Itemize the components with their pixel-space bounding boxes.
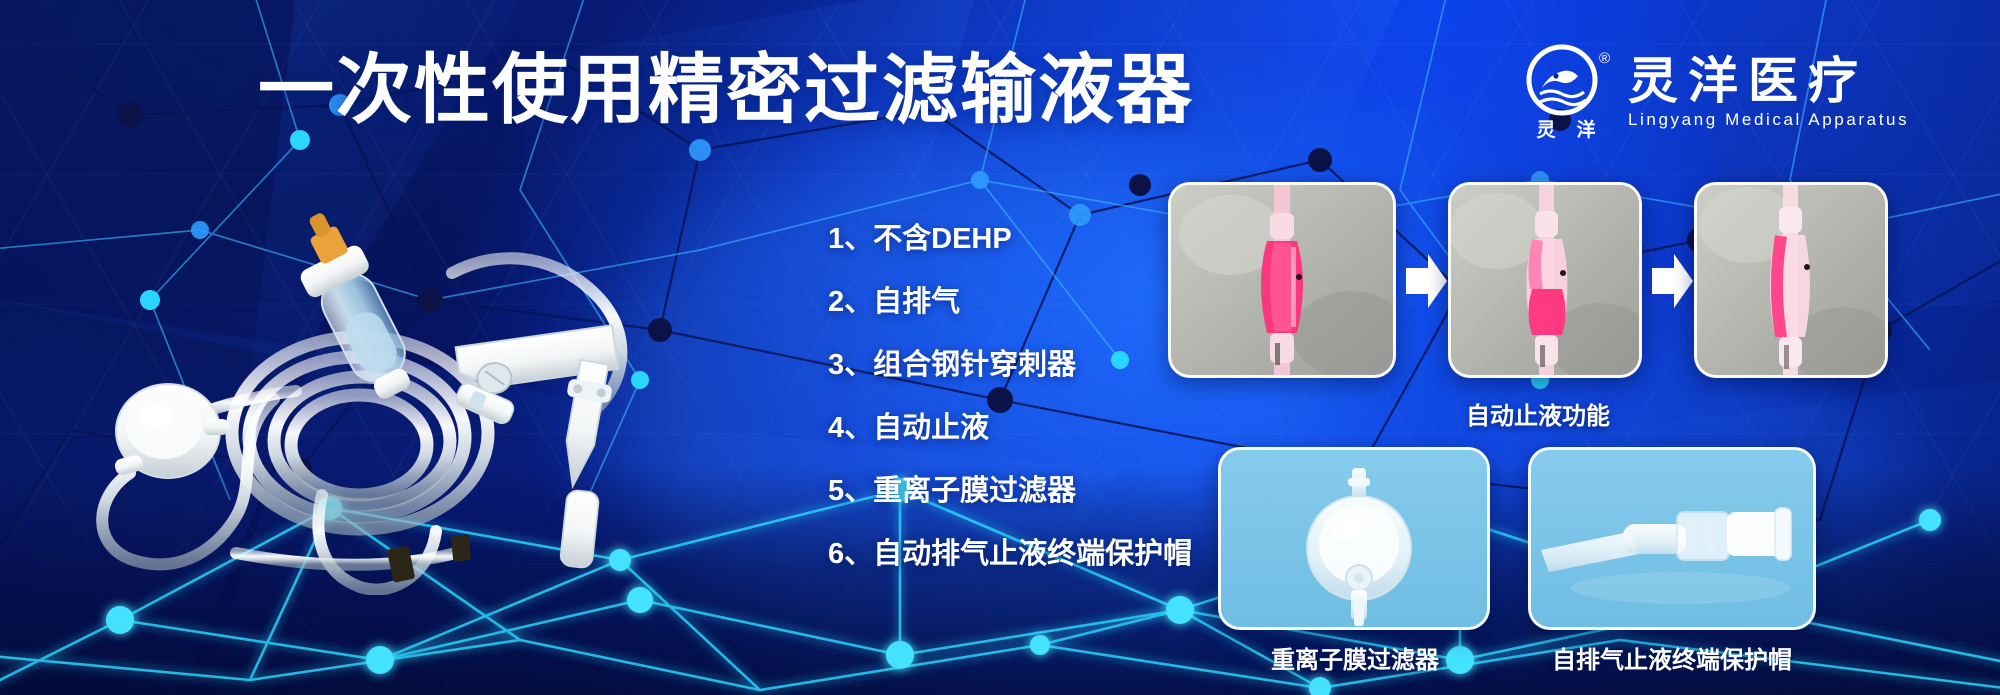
sequence-panel-1 — [1168, 182, 1396, 378]
round-filter-part — [113, 384, 229, 478]
feature-item: 5、重离子膜过滤器 — [828, 474, 1188, 508]
brand-name-cn: 灵洋医疗 — [1628, 54, 1909, 108]
sequence-arrow-2 — [1650, 252, 1694, 310]
logo-char-yang: 洋 — [1576, 115, 1595, 142]
tube-label-part — [387, 545, 416, 583]
brand-name-en: Lingyang Medical Apparatus — [1628, 110, 1909, 130]
feature-item: 4、自动止液 — [828, 411, 1188, 445]
sequence-caption: 自动止液功能 — [1388, 396, 1688, 431]
sequence-panel-3 — [1694, 182, 1888, 378]
feature-item: 3、组合钢针穿刺器 — [828, 348, 1188, 382]
detail-panel-cap — [1528, 447, 1816, 630]
page-title: 一次性使用精密过滤输液器 — [258, 48, 1298, 134]
detail-caption-filter: 重离子膜过滤器 — [1224, 640, 1486, 675]
feature-item: 1、不含DEHP — [828, 222, 1188, 256]
protective-cap-part — [560, 490, 600, 569]
detail-caption-cap: 自排气止液终端保护帽 — [1528, 640, 1816, 675]
detail-panel-filter — [1218, 447, 1490, 630]
logo-char-ling: 灵 — [1536, 115, 1555, 142]
brand-logo: ® 灵 洋 灵洋医疗 Lingyang Medical Apparatus — [1520, 40, 1980, 144]
steel-piercer-part — [551, 358, 616, 490]
product-banner: 一次性使用精密过滤输液器 ® 灵 洋 灵洋医疗 Lingyang Medical… — [0, 0, 2000, 695]
feature-list: 1、不含DEHP 2、自排气 3、组合钢针穿刺器 4、自动止液 5、重离子膜过滤… — [828, 222, 1188, 571]
logo-emblem-icon: ® 灵 洋 — [1520, 42, 1612, 142]
sequence-arrow-1 — [1404, 252, 1448, 310]
registered-trademark-icon: ® — [1599, 50, 1610, 67]
product-photo — [60, 195, 740, 595]
feature-item: 2、自排气 — [828, 285, 1188, 319]
feature-item: 6、自动排气止液终端保护帽 — [828, 537, 1188, 571]
sequence-panel-2 — [1448, 182, 1642, 378]
